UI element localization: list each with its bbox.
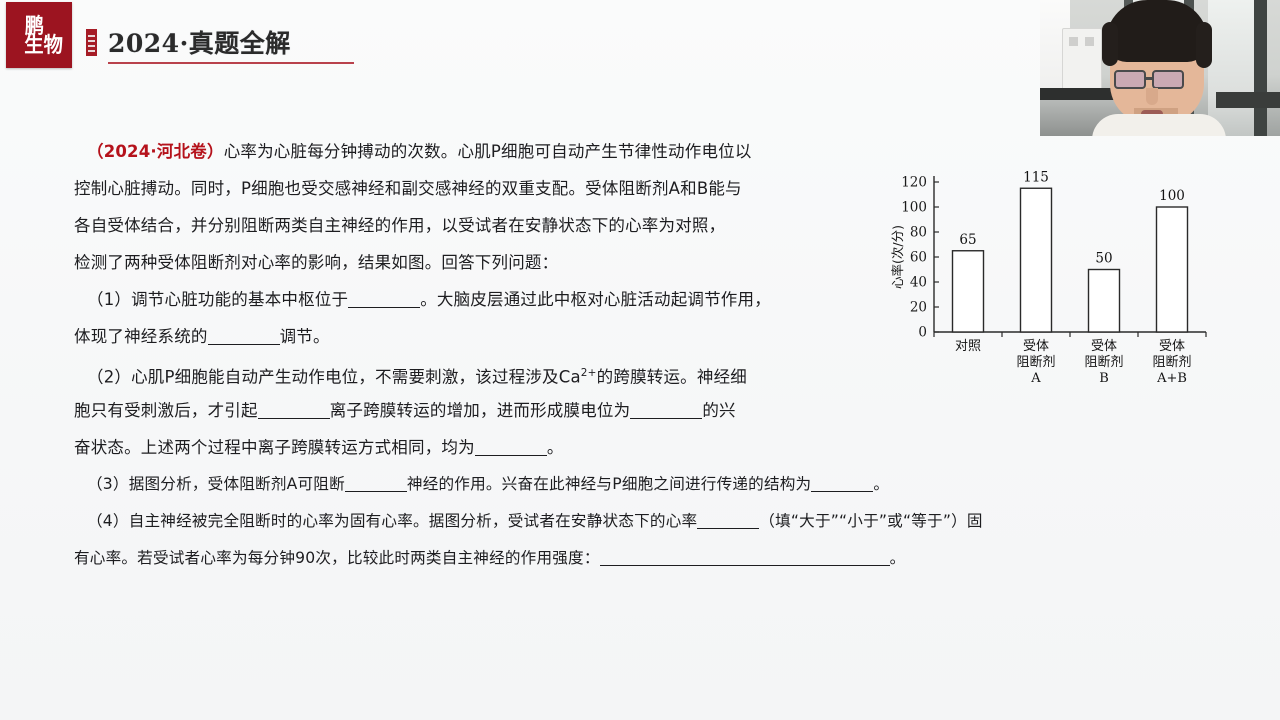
- chart-svg: 020406080100120 6511550100 对照受体阻断剂A受体阻断剂…: [888, 160, 1218, 388]
- answer-blank[interactable]: [475, 442, 547, 456]
- chart-category-labels: 对照受体阻断剂A受体阻断剂B受体阻断剂A+B: [955, 339, 1192, 386]
- answer-blank[interactable]: [348, 294, 420, 308]
- answer-blank[interactable]: [630, 405, 702, 419]
- y-tick-label: 60: [910, 250, 927, 266]
- presenter-shirt: [1092, 114, 1226, 136]
- glasses-lens-right-icon: [1152, 70, 1184, 89]
- y-axis-title-text: 心率(次/分): [890, 225, 905, 289]
- chart-bar: [953, 251, 984, 332]
- stem-text-4: 检测了两种受体阻断剂对心率的影响，结果如图。回答下列问题：: [74, 253, 558, 272]
- sub-question-4-line-2: 有心率。若受试者心率为每分钟90次，比较此时两类自主神经的作用强度：。: [74, 540, 905, 577]
- sub-question-1-line-2: 体现了神经系统的调节。: [74, 318, 330, 355]
- webcam-appliance: [1062, 28, 1102, 90]
- sub2-text-a: （2）心肌P细胞能自动产生动作电位，不需要刺激，该过程涉及Ca: [87, 368, 581, 387]
- sub-question-1-line-1: （1）调节心脏功能的基本中枢位于。大脑皮层通过此中枢对心脏活动起调节作用，: [74, 281, 771, 318]
- sub1-text-d: 调节。: [280, 327, 330, 346]
- stem-text-3: 各自受体结合，并分别阻断两类自主神经的作用，以受试者在安静状态下的心率为对照，: [74, 216, 725, 235]
- sub2-text-b: 的跨膜转运。神经细: [597, 368, 747, 387]
- sub-question-2-line-1: （2）心肌P细胞能自动产生动作电位，不需要刺激，该过程涉及Ca2+的跨膜转运。神…: [74, 355, 747, 396]
- answer-blank[interactable]: [258, 405, 330, 419]
- y-tick-label: 20: [910, 300, 927, 316]
- stem-text-2: 控制心脏搏动。同时，P细胞也受交感神经和副交感神经的双重支配。受体阻断剂A和B能…: [74, 179, 742, 198]
- sub3-text-b: 神经的作用。兴奋在此神经与P细胞之间进行传递的结构为: [407, 475, 811, 493]
- sub3-text-c: 。: [873, 475, 889, 493]
- sub1-text-c: 体现了神经系统的: [74, 327, 208, 346]
- category-label: 阻断剂: [1084, 355, 1123, 370]
- brand-logo-line2: 生物: [24, 34, 63, 55]
- category-label: 受体: [1091, 339, 1117, 354]
- sub-question-2-line-3: 奋状态。上述两个过程中离子跨膜转运方式相同，均为。: [74, 429, 564, 466]
- sub2-text-f: 奋状态。上述两个过程中离子跨膜转运方式相同，均为: [74, 438, 475, 457]
- category-label: 阻断剂: [1152, 355, 1191, 370]
- answer-blank[interactable]: [697, 515, 759, 529]
- webcam-desk: [1216, 92, 1280, 108]
- sub1-text-b: 。大脑皮层通过此中枢对心脏活动起调节作用，: [420, 290, 771, 309]
- sub3-text-a: （3）据图分析，受体阻断剂A可阻断: [87, 475, 345, 493]
- glasses-bridge-icon: [1146, 77, 1153, 80]
- sub2-text-g: 。: [547, 438, 564, 457]
- answer-blank[interactable]: [811, 478, 873, 492]
- title-underline: [108, 62, 354, 64]
- category-label: B: [1099, 371, 1109, 386]
- category-label: 阻断剂: [1016, 355, 1055, 370]
- sub-question-2-line-2: 胞只有受刺激后，才引起离子跨膜转运的增加，进而形成膜电位为的兴: [74, 392, 736, 429]
- chart-value-labels: 6511550100: [959, 169, 1184, 266]
- brand-logo-text: 鹏 生物: [15, 15, 63, 55]
- answer-blank[interactable]: [208, 331, 280, 345]
- presenter-hair: [1106, 0, 1208, 62]
- category-label: 受体: [1023, 339, 1049, 354]
- sub2-text-c: 胞只有受刺激后，才引起: [74, 401, 258, 420]
- chart-bars: [934, 188, 1206, 337]
- webcam-window-frame-3: [1254, 0, 1267, 136]
- category-label: A: [1030, 371, 1041, 386]
- question-stem-line-2: 控制心脏搏动。同时，P细胞也受交感神经和副交感神经的双重支配。受体阻断剂A和B能…: [74, 170, 742, 207]
- answer-blank-long[interactable]: [600, 552, 890, 566]
- page-title: 2024·真题全解: [108, 24, 291, 60]
- bar-value-label: 65: [959, 232, 976, 248]
- bar-value-label: 50: [1095, 251, 1112, 267]
- superscript-charge: 2+: [581, 367, 597, 379]
- y-tick-label: 40: [910, 275, 927, 291]
- presenter-webcam-overlay: [1040, 0, 1280, 136]
- sub2-text-e: 的兴: [702, 401, 735, 420]
- heart-rate-bar-chart: 020406080100120 6511550100 对照受体阻断剂A受体阻断剂…: [888, 160, 1218, 388]
- sub4-text-a: （4）自主神经被完全阻断时的心率为固有心率。据图分析，受试者在安静状态下的心率: [87, 512, 697, 530]
- y-tick-label: 120: [901, 175, 927, 191]
- chart-bar: [1157, 207, 1188, 332]
- chart-bar: [1021, 188, 1052, 332]
- stem-text-1: 心率为心脏每分钟搏动的次数。心肌P细胞可自动产生节律性动作电位以: [224, 142, 752, 161]
- presenter-nose: [1146, 88, 1158, 105]
- presenter-hair-side-left: [1102, 22, 1118, 66]
- chart-y-axis-title: 心率(次/分): [890, 225, 905, 289]
- sub4-text-d: 。: [890, 549, 906, 567]
- webcam-window-right: [1208, 0, 1254, 136]
- sub-question-4-line-1: （4）自主神经被完全阻断时的心率为固有心率。据图分析，受试者在安静状态下的心率（…: [74, 503, 983, 540]
- answer-blank[interactable]: [345, 478, 407, 492]
- sub4-text-c: 有心率。若受试者心率为每分钟90次，比较此时两类自主神经的作用强度：: [74, 549, 600, 567]
- brand-logo-icon: 鹏 生物: [6, 2, 72, 68]
- category-label: 对照: [955, 339, 981, 354]
- sub-question-3: （3）据图分析，受体阻断剂A可阻断神经的作用。兴奋在此神经与P细胞之间进行传递的…: [74, 466, 889, 503]
- chart-bar: [1089, 270, 1120, 333]
- slide-page: 鹏 生物 2024·真题全解 （2024·河北卷）心率为心脏每分钟搏动的次数。心…: [0, 0, 1280, 720]
- question-stem-line-1: （2024·河北卷）心率为心脏每分钟搏动的次数。心肌P细胞可自动产生节律性动作电…: [74, 133, 752, 170]
- category-label: A+B: [1156, 371, 1187, 386]
- bar-value-label: 100: [1159, 188, 1185, 204]
- category-label: 受体: [1159, 339, 1185, 354]
- title-marker-icon: [86, 29, 97, 56]
- bar-value-label: 115: [1023, 169, 1049, 185]
- y-tick-label: 0: [918, 325, 927, 341]
- question-stem-line-3: 各自受体结合，并分别阻断两类自主神经的作用，以受试者在安静状态下的心率为对照，: [74, 207, 725, 244]
- sub2-text-d: 离子跨膜转运的增加，进而形成膜电位为: [330, 401, 631, 420]
- exam-source-label: （2024·河北卷）: [87, 142, 224, 161]
- glasses-lens-left-icon: [1114, 70, 1146, 89]
- question-stem-line-4: 检测了两种受体阻断剂对心率的影响，结果如图。回答下列问题：: [74, 244, 558, 281]
- sub4-text-b: （填“大于”“小于”或“等于”）固: [759, 512, 982, 530]
- sub1-text-a: （1）调节心脏功能的基本中枢位于: [87, 290, 348, 309]
- y-tick-label: 80: [910, 225, 927, 241]
- y-tick-label: 100: [901, 200, 927, 216]
- presenter-hair-side-right: [1196, 22, 1212, 68]
